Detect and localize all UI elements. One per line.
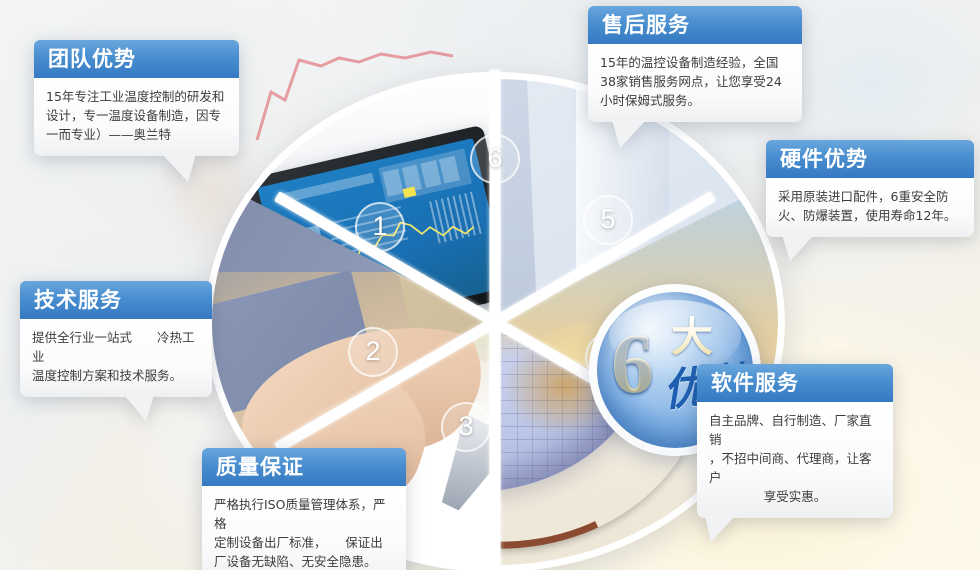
segment-number-1[interactable]: 1 [355, 202, 405, 252]
callout-line: 定制设备出厂标准， 保证出 [214, 533, 394, 552]
callout-after-sales-service[interactable]: 售后服务 15年的温控设备制造经验，全国 38家销售服务网点，让您享受24 小时… [588, 6, 802, 122]
segment-number-6[interactable]: 6 [470, 134, 520, 184]
callout-line: 采用原装进口配件，6重安全防 [778, 187, 962, 206]
callout-body-quality: 严格执行ISO质量管理体系，严格 定制设备出厂标准， 保证出 厂设备无缺陷、无安… [202, 486, 406, 570]
callout-line: 厂设备无缺陷、无安全隐患。 [214, 552, 394, 570]
callout-line: 火、防爆装置，使用寿命12年。 [778, 206, 962, 225]
callout-title-after-sales: 售后服务 [588, 6, 802, 44]
callout-line: 严格执行ISO质量管理体系，严格 [214, 495, 394, 533]
callout-title-tech: 技术服务 [20, 281, 212, 319]
callout-tail [782, 235, 814, 261]
segment-number-5[interactable]: 5 [583, 195, 633, 245]
callout-hardware-advantage[interactable]: 硬件优势 采用原装进口配件，6重安全防 火、防爆装置，使用寿命12年。 [766, 140, 974, 237]
callout-line: 设计，专一温度设备制造，因专 [46, 106, 227, 125]
segment-number-3[interactable]: 3 [441, 402, 491, 452]
callout-line: 一而专业）——奥兰特 [46, 125, 227, 144]
callout-line: ，不招中间商、代理商，让客户 [709, 449, 881, 487]
callout-line: 15年的温控设备制造经验，全国 [600, 53, 790, 72]
center-number: 6 [611, 320, 654, 406]
callout-line: 享受实惠。 [709, 487, 881, 506]
wheel-spoke [490, 70, 501, 322]
center-big-char: 大 [671, 316, 713, 358]
segment-number-2[interactable]: 2 [348, 327, 398, 377]
callout-line: 提供全行业一站式 冷热工业 [32, 328, 200, 366]
callout-title-software: 软件服务 [697, 364, 893, 402]
callout-technical-service[interactable]: 技术服务 提供全行业一站式 冷热工业 温度控制方案和技术服务。 [20, 281, 212, 397]
callout-title-hardware: 硬件优势 [766, 140, 974, 178]
callout-body-after-sales: 15年的温控设备制造经验，全国 38家销售服务网点，让您享受24 小时保姆式服务… [588, 44, 802, 122]
callout-line: 自主品牌、自行制造、厂家直销 [709, 411, 881, 449]
callout-body-team: 15年专注工业温度控制的研发和 设计，专一温度设备制造，因专 一而专业）——奥兰… [34, 78, 239, 156]
callout-tail [124, 395, 154, 421]
callout-tail [612, 120, 646, 148]
infographic-canvas: 1 2 3 4 5 6 6 大 优势 团队优势 15年专注工业温度控制的研发和 … [0, 0, 980, 570]
callout-title-team: 团队优势 [34, 40, 239, 78]
callout-body-software: 自主品牌、自行制造、厂家直销 ，不招中间商、代理商，让客户 享受实惠。 [697, 402, 893, 518]
callout-team-advantage[interactable]: 团队优势 15年专注工业温度控制的研发和 设计，专一温度设备制造，因专 一而专业… [34, 40, 239, 156]
wheel-spoke [490, 322, 501, 570]
callout-tail [705, 516, 735, 542]
callout-body-hardware: 采用原装进口配件，6重安全防 火、防爆装置，使用寿命12年。 [766, 178, 974, 237]
callout-line: 小时保姆式服务。 [600, 91, 790, 110]
callout-tail [162, 154, 196, 182]
callout-line: 38家销售服务网点，让您享受24 [600, 72, 790, 91]
callout-quality-assurance[interactable]: 质量保证 严格执行ISO质量管理体系，严格 定制设备出厂标准， 保证出 厂设备无… [202, 448, 406, 570]
callout-title-quality: 质量保证 [202, 448, 406, 486]
callout-line: 温度控制方案和技术服务。 [32, 366, 200, 385]
callout-software-service[interactable]: 软件服务 自主品牌、自行制造、厂家直销 ，不招中间商、代理商，让客户 享受实惠。 [697, 364, 893, 518]
callout-body-tech: 提供全行业一站式 冷热工业 温度控制方案和技术服务。 [20, 319, 212, 397]
callout-line: 15年专注工业温度控制的研发和 [46, 87, 227, 106]
